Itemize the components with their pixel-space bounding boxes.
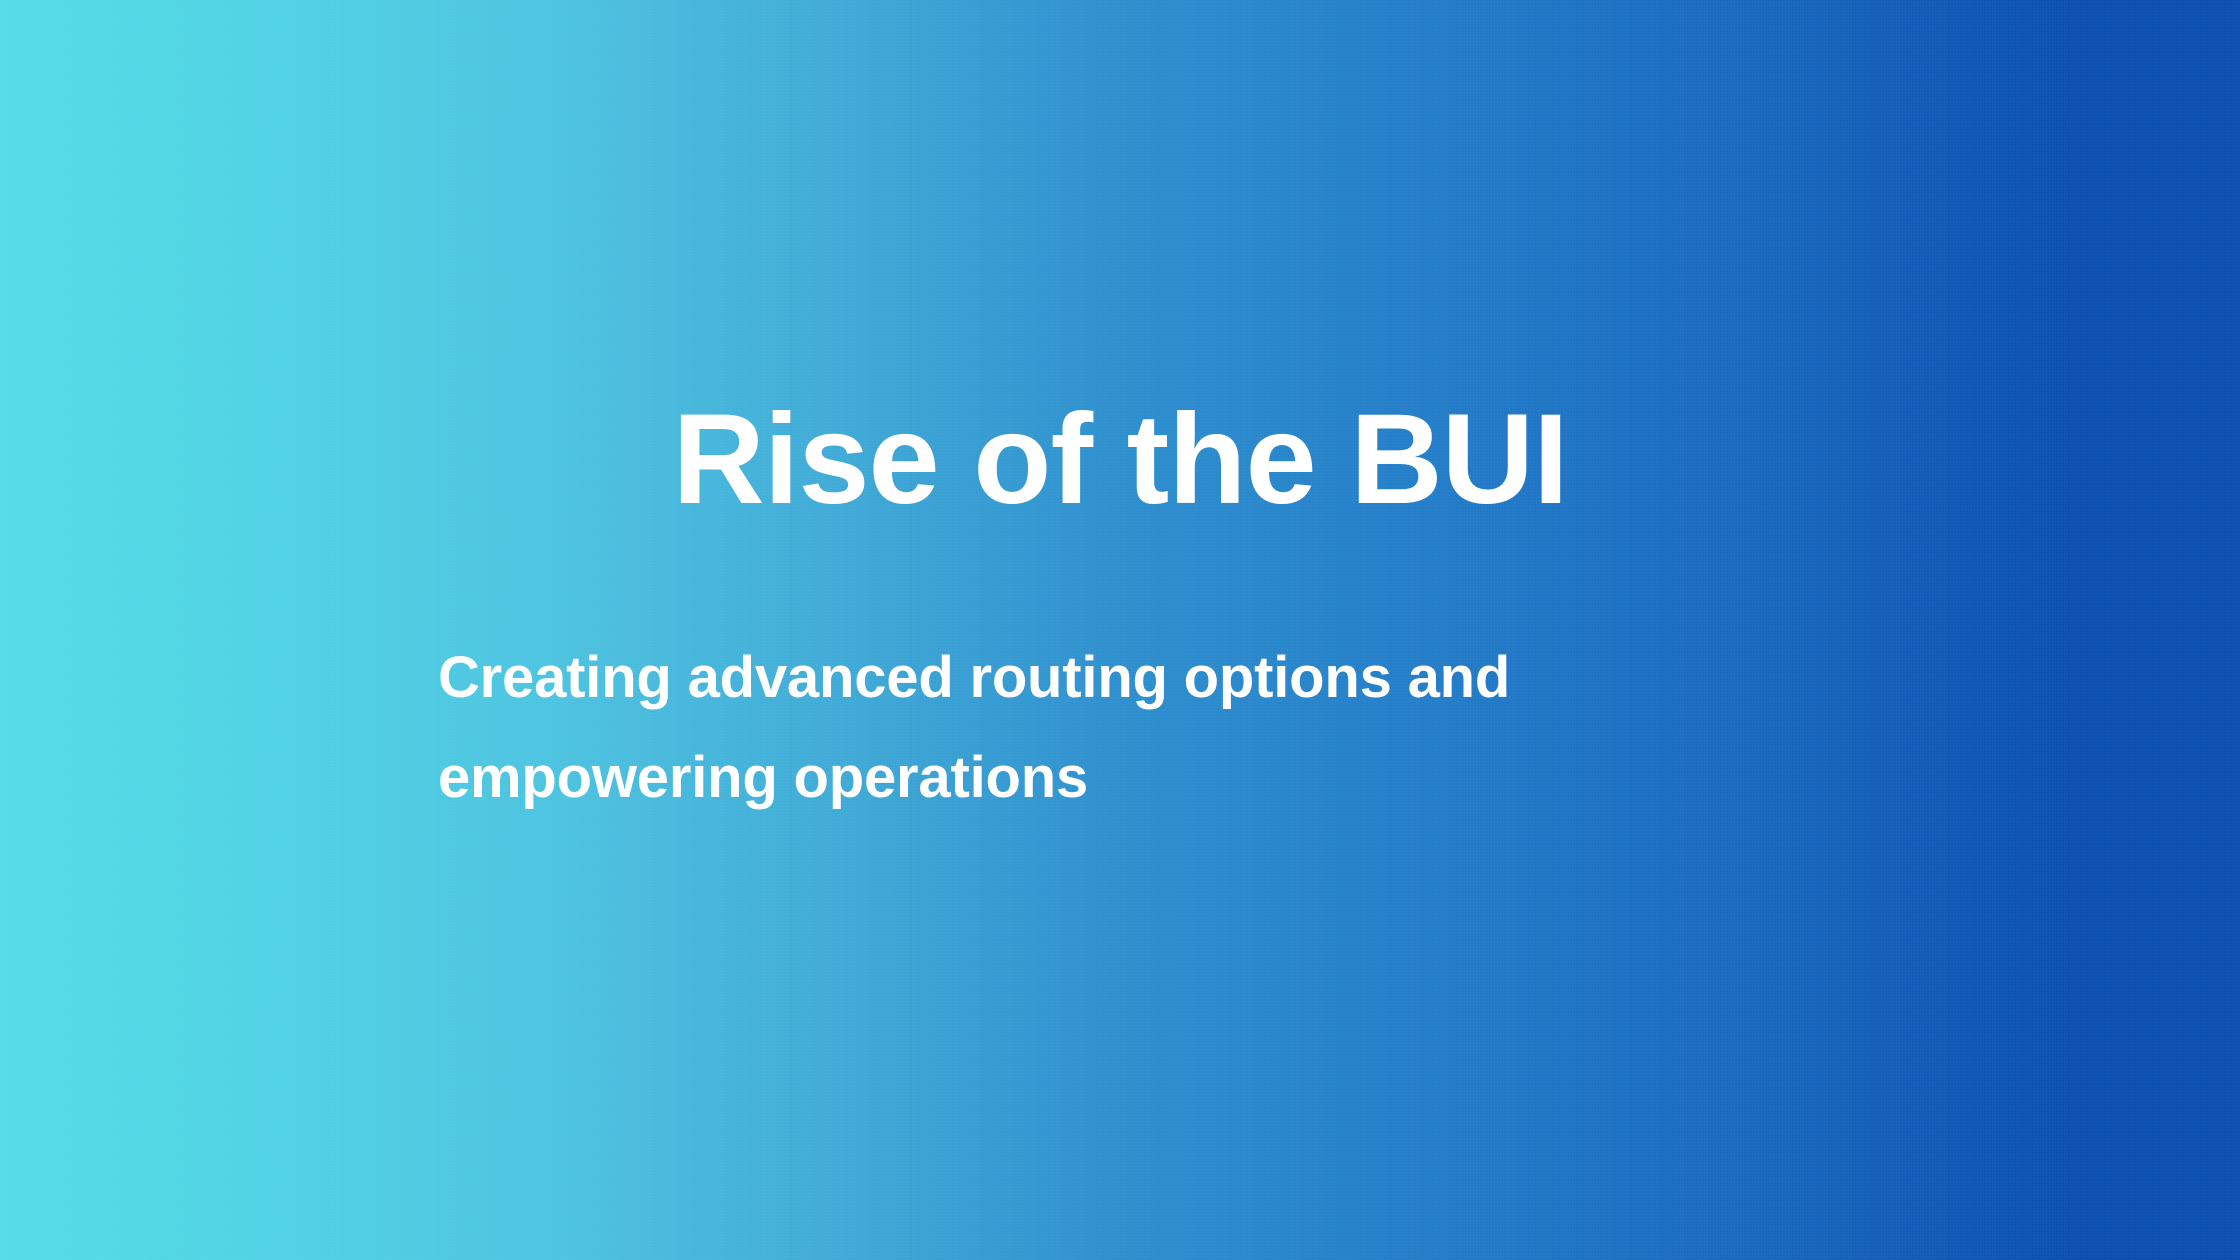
slide-subtitle: Creating advanced routing options and em… <box>438 628 1798 828</box>
title-slide: Rise of the BUI Creating advanced routin… <box>0 0 2240 1260</box>
slide-content: Rise of the BUI Creating advanced routin… <box>0 0 2240 1260</box>
slide-title: Rise of the BUI <box>0 396 2240 524</box>
slide-subtitle-line-2: empowering operations <box>438 728 1798 828</box>
slide-subtitle-line-1: Creating advanced routing options and <box>438 628 1798 728</box>
